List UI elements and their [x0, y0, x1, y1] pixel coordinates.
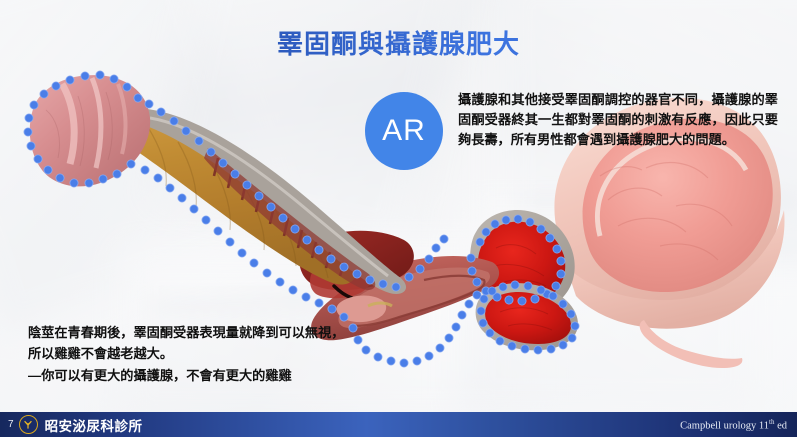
callout-right-paragraph: 攝護腺和其他接受睪固酮調控的器官不同，攝護腺的睪固酮受器終其一生都對睪固酮的刺激… — [458, 90, 778, 150]
source-reference: Campbell urology 11th ed — [680, 418, 787, 432]
ar-receptor-badge: AR — [365, 92, 443, 170]
slide-title: 睪固酮與攝護腺肥大 — [0, 24, 797, 61]
callout-left-paragraph: 陰莖在青春期後，睪固酮受器表現量就降到可以無視， 所以雞雞不會越老越大。 —你可… — [28, 322, 428, 386]
clinic-crest-logo — [19, 415, 38, 434]
ar-badge-label: AR — [382, 114, 426, 148]
slide-canvas: 睪固酮與攝護腺肥大 AR 攝護腺和其他接受睪固酮調控的器官不同，攝護腺的睪固酮受… — [0, 0, 797, 437]
reference-suffix: ed — [774, 420, 787, 431]
page-number: 7 — [8, 419, 14, 430]
reference-prefix: Campbell urology 11 — [680, 420, 769, 431]
slide-footer: 7 昭安泌尿科診所 Campbell urology 11th ed — [0, 412, 797, 437]
clinic-name: 昭安泌尿科診所 — [45, 415, 143, 435]
